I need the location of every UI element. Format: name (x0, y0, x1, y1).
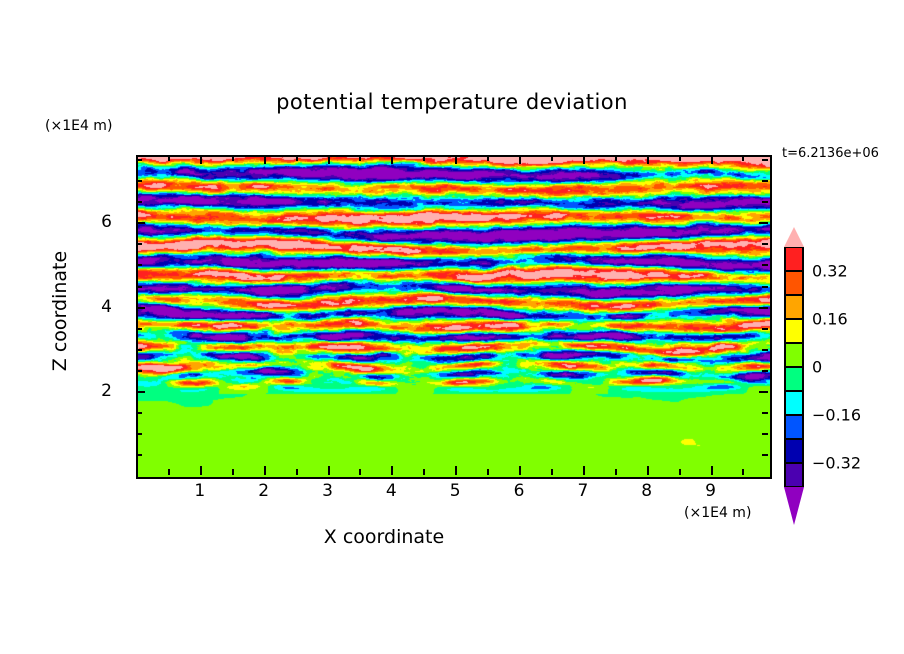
tick-mark (232, 469, 234, 475)
tick-mark (200, 466, 202, 475)
tick-mark (136, 349, 142, 351)
tick-mark (232, 155, 234, 161)
tick-mark (762, 180, 768, 182)
contour-plot-area (136, 155, 772, 479)
tick-mark (487, 155, 489, 161)
tick-mark (759, 222, 768, 224)
colorbar-band (784, 319, 804, 343)
x-tick-label: 1 (194, 481, 205, 501)
tick-mark (679, 155, 681, 161)
x-tick-label: 7 (577, 481, 588, 501)
tick-mark (423, 155, 425, 161)
tick-mark (711, 155, 713, 164)
colorbar-tick-label: 0.16 (812, 310, 848, 329)
y-axis-title: Z coordinate (49, 211, 71, 411)
contour-canvas (138, 157, 770, 477)
figure: potential temperature deviation (×1E4 m)… (0, 0, 904, 654)
tick-mark (136, 328, 142, 330)
y-tick-label: 2 (101, 381, 112, 401)
tick-mark (168, 155, 170, 161)
tick-mark (551, 155, 553, 161)
y-tick-label: 6 (101, 212, 112, 232)
tick-mark (136, 433, 142, 435)
tick-mark (551, 469, 553, 475)
tick-mark (762, 286, 768, 288)
colorbar-tick-label: −0.32 (812, 454, 861, 473)
colorbar-tick-label: 0.32 (812, 262, 848, 281)
x-tick-label: 2 (258, 481, 269, 501)
colorbar-over-cap (784, 227, 804, 247)
tick-mark (742, 469, 744, 475)
colorbar-band (784, 367, 804, 391)
tick-mark (328, 155, 330, 164)
tick-mark (296, 155, 298, 161)
tick-mark (264, 466, 266, 475)
colorbar-tick-label: −0.16 (812, 406, 861, 425)
colorbar-bands (784, 247, 804, 487)
x-tick-label: 9 (705, 481, 716, 501)
tick-mark (136, 201, 142, 203)
colorbar-band (784, 391, 804, 415)
x-tick-label: 4 (386, 481, 397, 501)
y-tick-label: 4 (101, 297, 112, 317)
colorbar-band (784, 463, 804, 487)
colorbar-band (784, 271, 804, 295)
x-tick-label: 3 (322, 481, 333, 501)
x-axis-unit-label: (×1E4 m) (684, 505, 751, 521)
tick-mark (168, 469, 170, 475)
tick-mark (487, 469, 489, 475)
page-title: potential temperature deviation (0, 90, 904, 114)
tick-mark (647, 155, 649, 164)
tick-mark (762, 328, 768, 330)
tick-mark (296, 469, 298, 475)
tick-mark (136, 264, 142, 266)
tick-mark (679, 469, 681, 475)
tick-mark (519, 155, 521, 164)
tick-mark (762, 264, 768, 266)
tick-mark (762, 349, 768, 351)
tick-mark (615, 155, 617, 161)
x-tick-label: 6 (514, 481, 525, 501)
tick-mark (328, 466, 330, 475)
tick-mark (711, 466, 713, 475)
colorbar-band (784, 295, 804, 319)
tick-mark (762, 412, 768, 414)
tick-mark (615, 469, 617, 475)
tick-mark (519, 466, 521, 475)
tick-mark (359, 469, 361, 475)
tick-mark (136, 286, 142, 288)
colorbar-under-cap (784, 487, 804, 525)
tick-mark (762, 454, 768, 456)
colorbar-band (784, 415, 804, 439)
tick-mark (759, 391, 768, 393)
colorbar-tick-label: 0 (812, 358, 822, 377)
tick-mark (762, 201, 768, 203)
tick-mark (136, 222, 145, 224)
colorbar-band (784, 247, 804, 271)
x-axis-title: X coordinate (0, 526, 768, 548)
tick-mark (762, 159, 768, 161)
colorbar-band (784, 439, 804, 463)
tick-mark (136, 307, 145, 309)
z-axis-unit-label: (×1E4 m) (45, 118, 112, 134)
tick-mark (200, 155, 202, 164)
tick-mark (762, 433, 768, 435)
x-tick-label: 8 (641, 481, 652, 501)
tick-mark (742, 155, 744, 161)
tick-mark (136, 412, 142, 414)
tick-mark (136, 243, 142, 245)
tick-mark (136, 180, 142, 182)
tick-mark (136, 370, 142, 372)
tick-mark (391, 466, 393, 475)
tick-mark (759, 307, 768, 309)
tick-mark (583, 466, 585, 475)
tick-mark (647, 466, 649, 475)
timestamp-annotation: t=6.2136e+06 (782, 146, 879, 161)
tick-mark (136, 159, 142, 161)
tick-mark (762, 370, 768, 372)
tick-mark (762, 243, 768, 245)
tick-mark (455, 466, 457, 475)
tick-mark (391, 155, 393, 164)
tick-mark (136, 454, 142, 456)
tick-mark (136, 391, 145, 393)
colorbar-band (784, 343, 804, 367)
tick-mark (583, 155, 585, 164)
tick-mark (359, 155, 361, 161)
tick-mark (455, 155, 457, 164)
tick-mark (264, 155, 266, 164)
tick-mark (423, 469, 425, 475)
x-tick-label: 5 (450, 481, 461, 501)
